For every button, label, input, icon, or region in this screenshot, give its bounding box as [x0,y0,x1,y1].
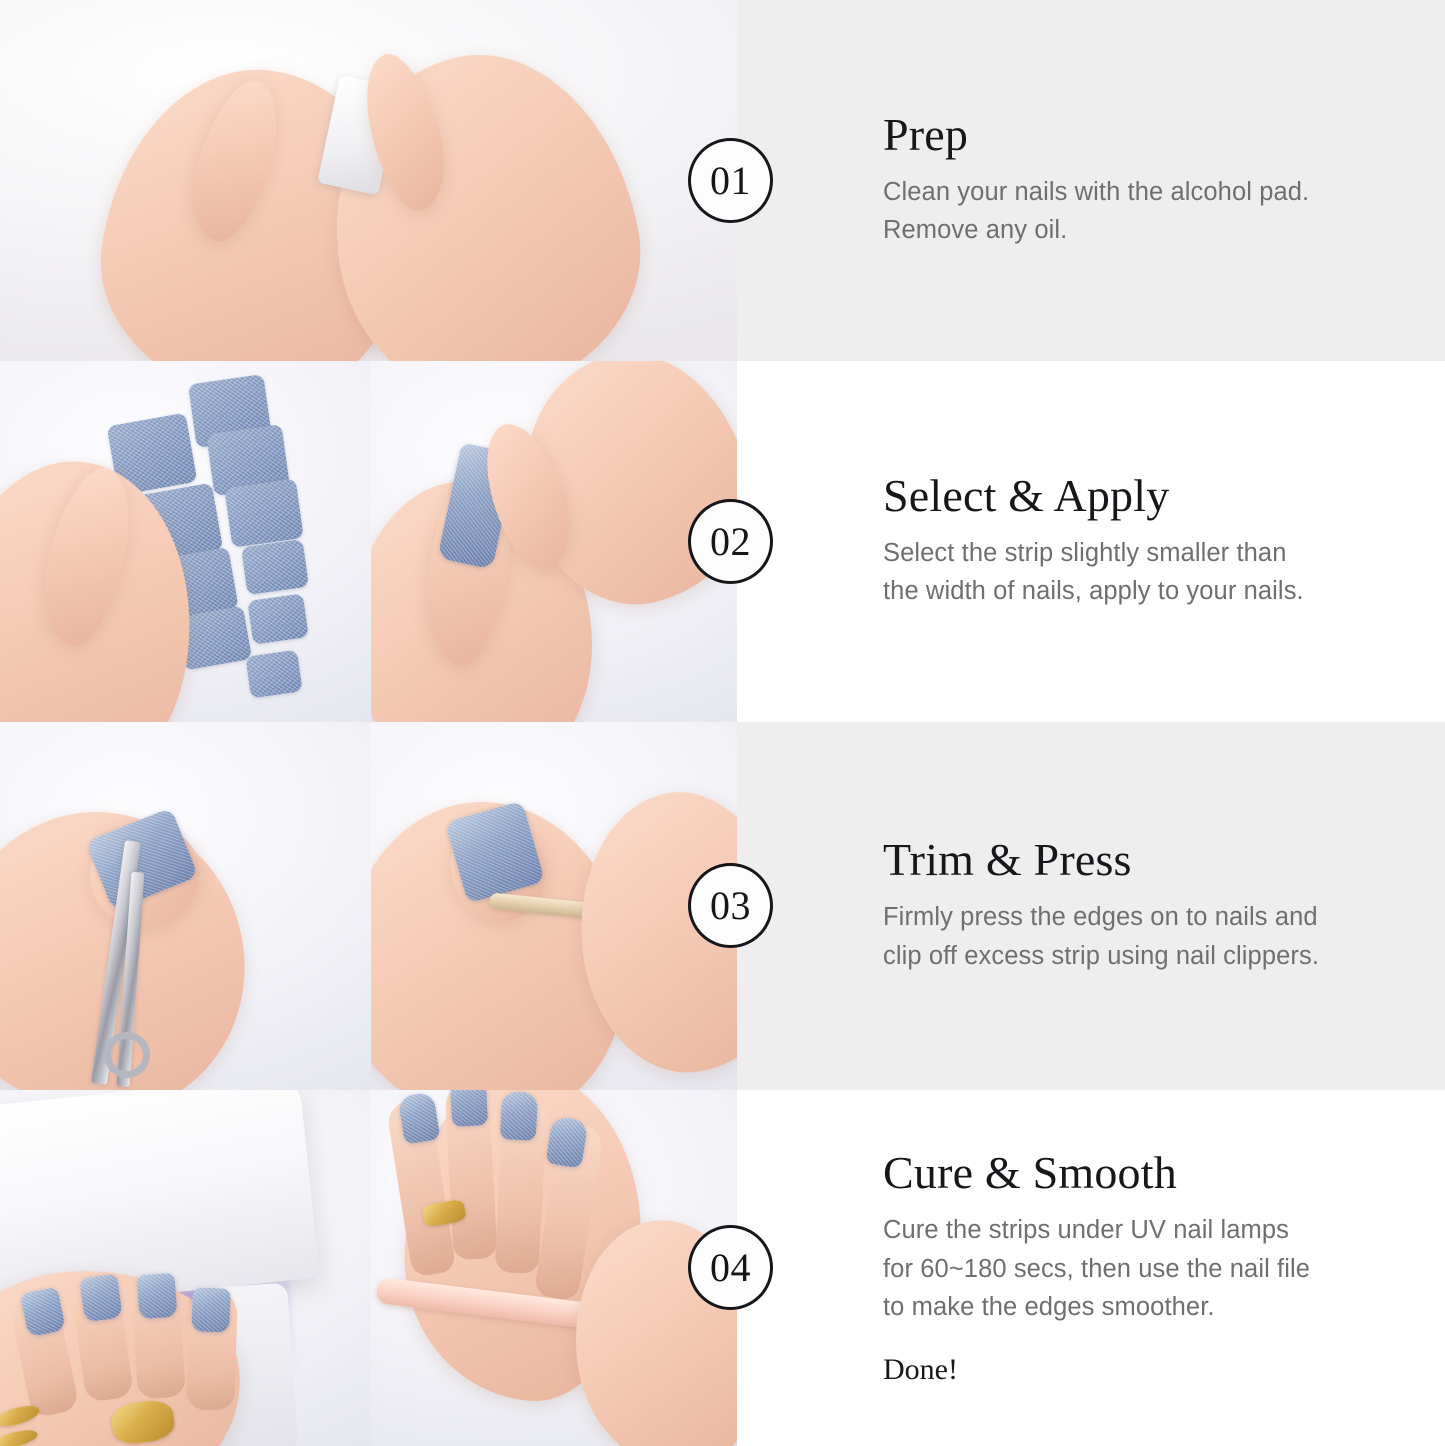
photo-hands-holding-alcohol-pad [0,0,737,361]
step-number-badge-02: 02 [688,499,773,584]
step-03-text: 03 Trim & Press Firmly press the edges o… [737,722,1445,1090]
step-04-description-line-2: for 60~180 secs, then use the nail file [883,1250,1353,1289]
photo-nail-strip-sheet [0,361,371,722]
blue-nail-shape [450,1090,488,1127]
step-row-01: 01 Prep Clean your nails with the alcoho… [0,0,1445,361]
step-04-outro: Done! [883,1353,1405,1387]
step-03-photos [0,722,737,1090]
step-04-description-line-1: Cure the strips under UV nail lamps [883,1211,1353,1250]
step-number-badge-03: 03 [688,863,773,948]
nail-strip [224,478,304,547]
blue-nail-shape [500,1091,538,1141]
nail-strip [241,539,309,595]
photo-filing-nail-edges [371,1090,737,1446]
blue-nail-shape [191,1287,231,1332]
step-01-photos [0,0,737,361]
step-04-description: Cure the strips under UV nail lamps for … [883,1211,1353,1327]
photo-clipping-excess-strip [0,722,371,1090]
step-02-photos [0,361,737,722]
step-01-description-line-1: Clean your nails with the alcohol pad. [883,173,1353,212]
step-02-text: 02 Select & Apply Select the strip sligh… [737,361,1445,722]
step-03-description-line-1: Firmly press the edges on to nails and [883,898,1353,937]
step-04-title: Cure & Smooth [883,1149,1405,1198]
step-02-description-line-2: the width of nails, apply to your nails. [883,572,1353,611]
step-02-description: Select the strip slightly smaller than t… [883,534,1353,612]
blue-nail-shape [137,1273,178,1320]
step-02-description-line-1: Select the strip slightly smaller than [883,534,1353,573]
blue-nail-shape [79,1274,123,1323]
step-number-badge-04: 04 [688,1225,773,1310]
step-02-title: Select & Apply [883,472,1405,521]
step-01-description: Clean your nails with the alcohol pad. R… [883,173,1353,251]
step-01-description-line-2: Remove any oil. [883,211,1353,250]
step-01-title: Prep [883,111,1405,160]
instruction-infographic: 01 Prep Clean your nails with the alcoho… [0,0,1445,1446]
nail-strip [247,593,309,644]
step-03-title: Trim & Press [883,836,1405,885]
step-04-description-line-3: to make the edges smoother. [883,1288,1353,1327]
step-row-02: 02 Select & Apply Select the strip sligh… [0,361,1445,722]
step-number-badge-01: 01 [688,138,773,223]
step-04-photos [0,1090,737,1446]
nail-strip [245,650,302,699]
step-03-description: Firmly press the edges on to nails and c… [883,898,1353,976]
step-04-text: 04 Cure & Smooth Cure the strips under U… [737,1090,1445,1446]
step-row-03: 03 Trim & Press Firmly press the edges o… [0,722,1445,1090]
photo-pressing-edges-with-stick [371,722,737,1090]
step-row-04: 04 Cure & Smooth Cure the strips under U… [0,1090,1445,1446]
step-01-text: 01 Prep Clean your nails with the alcoho… [737,0,1445,361]
step-03-description-line-2: clip off excess strip using nail clipper… [883,937,1353,976]
photo-curing-under-uv-lamp [0,1090,371,1446]
photo-applying-strip-to-nail [371,361,737,722]
